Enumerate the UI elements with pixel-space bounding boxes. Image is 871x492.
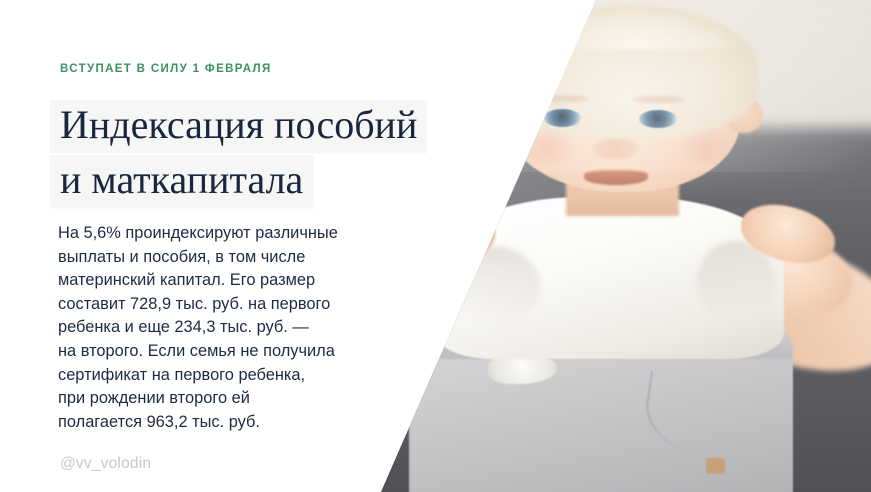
baby-nose xyxy=(592,139,637,160)
baby-ear-left xyxy=(490,98,528,132)
body-line: выплаты и пособия, в том числе xyxy=(58,246,438,270)
body-line: при рождении второго ей xyxy=(58,387,438,411)
baby-eye-left xyxy=(544,109,581,127)
page-title-line-2: и маткапитала xyxy=(50,155,313,207)
baby-eye-right xyxy=(639,110,676,128)
body-line: сертификат на первого ребенка, xyxy=(58,364,438,388)
body-line: ребенка и еще 234,3 тыс. руб. — xyxy=(58,316,438,340)
page-title: Индексация пособий и маткапитала xyxy=(50,100,470,210)
body-text: На 5,6% проиндексируют различные выплаты… xyxy=(58,222,438,434)
baby-cheek-left xyxy=(514,133,584,163)
baby-pants-tag xyxy=(706,458,725,475)
body-line: составит 728,9 тыс. руб. на первого xyxy=(58,293,438,317)
infographic-slide: ВСТУПАЕТ В СИЛУ 1 ФЕВРАЛЯ Индексация пос… xyxy=(0,0,871,492)
eyebrow-effective-date: ВСТУПАЕТ В СИЛУ 1 ФЕВРАЛЯ xyxy=(60,63,272,75)
baby-mouth xyxy=(584,170,648,185)
social-handle: @vv_volodin xyxy=(60,455,151,473)
baby-hair-wisps xyxy=(523,0,749,49)
body-line: материнский капитал. Его размер xyxy=(58,269,438,293)
body-line: на второго. Если семья не получила xyxy=(58,340,438,364)
body-line: полагается 963,2 тыс. руб. xyxy=(58,411,438,435)
page-title-line-1: Индексация пособий xyxy=(50,100,427,152)
text-panel: ВСТУПАЕТ В СИЛУ 1 ФЕВРАЛЯ Индексация пос… xyxy=(0,0,470,492)
body-line: На 5,6% проиндексируют различные xyxy=(58,222,438,246)
